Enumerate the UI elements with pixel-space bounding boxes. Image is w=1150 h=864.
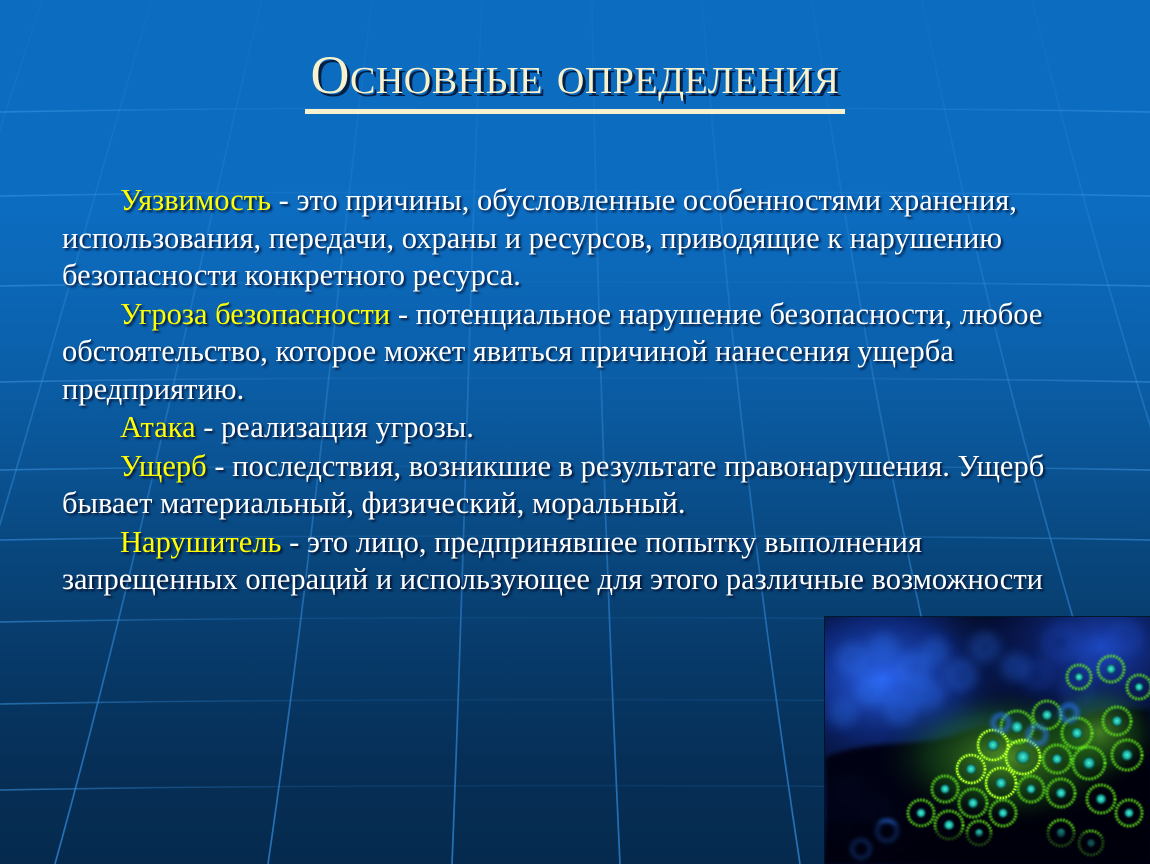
definitions-list: Уязвимость - это причины, обусловленные … <box>62 182 1074 600</box>
definition-attack: Атака - реализация угрозы. <box>62 409 1074 447</box>
term-vulnerability: Уязвимость <box>120 183 271 217</box>
definition-text-attack: - реализация угрозы. <box>196 410 474 444</box>
term-attack: Атака <box>120 410 196 444</box>
term-offender: Нарушитель <box>120 525 281 559</box>
page-title: Основные определения <box>305 46 846 114</box>
definition-vulnerability: Уязвимость - это причины, обусловленные … <box>62 182 1074 295</box>
slide-canvas: Основные определения Уязвимость - это пр… <box>0 0 1150 864</box>
title-block: Основные определения <box>0 46 1150 114</box>
definition-damage: Ущерб - последствия, возникшие в результ… <box>62 448 1074 523</box>
definition-offender: Нарушитель - это лицо, предпринявшее поп… <box>62 524 1074 599</box>
term-security-threat: Угроза безопасности <box>120 297 390 331</box>
definition-security-threat: Угроза безопасности - потенциальное нару… <box>62 296 1074 409</box>
definition-text-damage: - последствия, возникшие в результате пр… <box>62 449 1044 521</box>
term-damage: Ущерб <box>120 449 207 483</box>
coral-photo <box>825 617 1150 864</box>
